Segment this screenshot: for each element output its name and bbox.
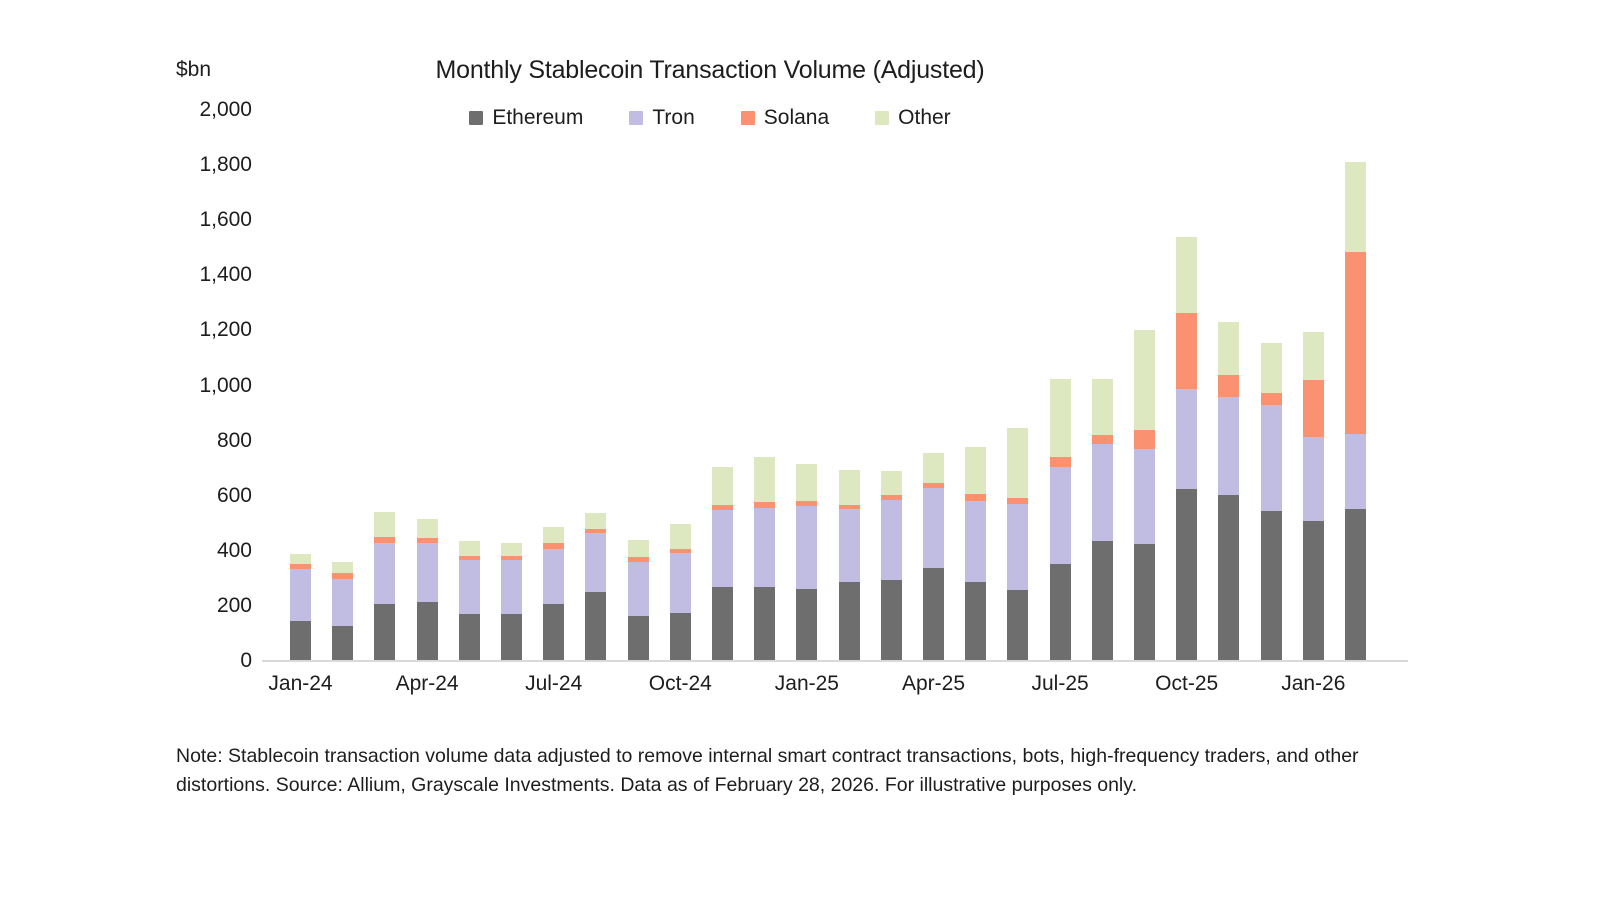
bar-segment-other xyxy=(1134,330,1155,430)
bar-segment-other xyxy=(712,467,733,506)
bar-segment-other xyxy=(1176,237,1197,314)
bar-segment-solana xyxy=(1176,313,1197,389)
bar-segment-tron xyxy=(290,569,311,621)
bar-apr-24[interactable] xyxy=(417,110,438,661)
bar-segment-ethereum xyxy=(712,587,733,661)
bar-segment-solana xyxy=(1345,252,1366,434)
bar-jan-26[interactable] xyxy=(1303,110,1324,661)
bar-may-24[interactable] xyxy=(459,110,480,661)
bar-jan-25[interactable] xyxy=(796,110,817,661)
bar-segment-other xyxy=(965,447,986,494)
bar-segment-tron xyxy=(417,543,438,601)
bar-segment-ethereum xyxy=(923,568,944,661)
bar-segment-ethereum xyxy=(670,613,691,661)
bar-segment-ethereum xyxy=(965,582,986,661)
bar-feb-26[interactable] xyxy=(1345,110,1366,661)
bar-may-25[interactable] xyxy=(965,110,986,661)
bar-segment-tron xyxy=(374,543,395,604)
bar-segment-tron xyxy=(1176,389,1197,489)
y-axis-tick-label: 0 xyxy=(162,649,252,673)
x-axis-tick-label: Apr-24 xyxy=(396,672,459,696)
bar-segment-tron xyxy=(501,560,522,614)
bar-segment-other xyxy=(374,512,395,537)
bar-nov-25[interactable] xyxy=(1218,110,1239,661)
bar-segment-solana xyxy=(1261,393,1282,405)
bar-segment-solana xyxy=(1303,380,1324,437)
bar-dec-24[interactable] xyxy=(754,110,775,661)
bar-segment-ethereum xyxy=(543,604,564,661)
bar-segment-solana xyxy=(1218,375,1239,397)
bar-segment-ethereum xyxy=(1134,544,1155,661)
bar-sep-24[interactable] xyxy=(628,110,649,661)
bar-segment-tron xyxy=(628,562,649,616)
x-axis-tick-label: Jan-25 xyxy=(775,672,839,696)
bar-jun-25[interactable] xyxy=(1007,110,1028,661)
bar-segment-other xyxy=(670,524,691,549)
plot-area xyxy=(262,105,1402,661)
bar-oct-24[interactable] xyxy=(670,110,691,661)
bar-segment-tron xyxy=(332,579,353,625)
y-axis-tick-label: 1,000 xyxy=(162,374,252,398)
x-axis-tick-label: Jul-25 xyxy=(1031,672,1088,696)
bar-nov-24[interactable] xyxy=(712,110,733,661)
bar-segment-other xyxy=(585,513,606,529)
bar-segment-other xyxy=(417,519,438,539)
x-axis-tick-label: Jan-24 xyxy=(268,672,332,696)
bar-segment-ethereum xyxy=(881,580,902,661)
bar-segment-tron xyxy=(1050,467,1071,564)
y-axis-tick-label: 2,000 xyxy=(162,98,252,122)
y-axis-tick-label: 200 xyxy=(162,594,252,618)
bar-segment-other xyxy=(754,457,775,502)
bar-segment-other xyxy=(290,554,311,564)
bar-segment-ethereum xyxy=(417,602,438,661)
y-axis-tick-label: 1,800 xyxy=(162,153,252,177)
bar-segment-ethereum xyxy=(628,616,649,661)
bar-segment-tron xyxy=(1303,437,1324,521)
x-axis-tick-label: Jan-26 xyxy=(1281,672,1345,696)
bar-segment-other xyxy=(1345,162,1366,252)
bar-segment-tron xyxy=(923,488,944,568)
bar-segment-ethereum xyxy=(501,614,522,661)
bar-segment-ethereum xyxy=(290,621,311,661)
bar-segment-tron xyxy=(754,508,775,587)
bar-segment-tron xyxy=(1218,397,1239,495)
y-axis-tick-label: 1,200 xyxy=(162,318,252,342)
bar-segment-ethereum xyxy=(332,626,353,661)
bar-sep-25[interactable] xyxy=(1134,110,1155,661)
bar-oct-25[interactable] xyxy=(1176,110,1197,661)
bar-segment-solana xyxy=(1134,430,1155,449)
bar-apr-25[interactable] xyxy=(923,110,944,661)
bar-segment-ethereum xyxy=(839,582,860,661)
bar-segment-ethereum xyxy=(1050,564,1071,661)
bar-jun-24[interactable] xyxy=(501,110,522,661)
bar-segment-tron xyxy=(459,560,480,614)
x-axis-tick-label: Jul-24 xyxy=(525,672,582,696)
y-axis-tick-label: 600 xyxy=(162,484,252,508)
bar-dec-25[interactable] xyxy=(1261,110,1282,661)
x-axis-line xyxy=(262,660,1408,662)
bar-segment-other xyxy=(459,541,480,555)
bar-segment-other xyxy=(1050,379,1071,456)
bar-segment-other xyxy=(1261,343,1282,393)
bar-segment-other xyxy=(923,453,944,483)
bar-segment-ethereum xyxy=(754,587,775,661)
bar-segment-ethereum xyxy=(585,592,606,661)
bar-segment-other xyxy=(1092,379,1113,434)
bar-segment-ethereum xyxy=(1007,590,1028,661)
bar-segment-other xyxy=(881,471,902,495)
x-axis-tick-label: Oct-24 xyxy=(649,672,712,696)
bar-segment-other xyxy=(1007,428,1028,498)
bar-feb-25[interactable] xyxy=(839,110,860,661)
bar-segment-tron xyxy=(1007,504,1028,590)
bar-segment-tron xyxy=(670,553,691,613)
bar-jan-24[interactable] xyxy=(290,110,311,661)
bar-segment-other xyxy=(839,470,860,505)
bar-segment-tron xyxy=(1261,405,1282,511)
bar-segment-tron xyxy=(1345,434,1366,510)
bar-segment-solana xyxy=(965,494,986,501)
bar-mar-24[interactable] xyxy=(374,110,395,661)
bar-segment-tron xyxy=(1092,444,1113,541)
bar-segment-tron xyxy=(712,510,733,587)
bar-segment-tron xyxy=(1134,449,1155,544)
bar-segment-tron xyxy=(543,549,564,604)
bar-feb-24[interactable] xyxy=(332,110,353,661)
y-axis-tick-label: 1,600 xyxy=(162,208,252,232)
bar-segment-solana xyxy=(1050,457,1071,467)
bar-segment-tron xyxy=(585,533,606,592)
bar-jul-25[interactable] xyxy=(1050,110,1071,661)
x-axis-tick-label: Oct-25 xyxy=(1155,672,1218,696)
bar-segment-ethereum xyxy=(1303,521,1324,661)
bar-segment-solana xyxy=(1092,435,1113,445)
bar-segment-other xyxy=(1303,332,1324,379)
bar-segment-tron xyxy=(839,509,860,583)
bar-segment-ethereum xyxy=(374,604,395,661)
bar-segment-ethereum xyxy=(1218,495,1239,661)
y-axis-tick-label: 800 xyxy=(162,429,252,453)
bar-segment-tron xyxy=(796,506,817,589)
bar-segment-ethereum xyxy=(1176,489,1197,661)
bar-jul-24[interactable] xyxy=(543,110,564,661)
bar-mar-25[interactable] xyxy=(881,110,902,661)
chart-footnote: Note: Stablecoin transaction volume data… xyxy=(176,742,1396,800)
y-axis-tick-label: 400 xyxy=(162,539,252,563)
bar-segment-other xyxy=(1218,322,1239,376)
bar-segment-ethereum xyxy=(1261,511,1282,661)
bar-segment-other xyxy=(543,527,564,543)
y-axis-tick-label: 1,400 xyxy=(162,263,252,287)
bar-segment-tron xyxy=(965,501,986,583)
x-axis-tick-label: Apr-25 xyxy=(902,672,965,696)
bar-segment-ethereum xyxy=(1345,509,1366,661)
bar-segment-ethereum xyxy=(459,614,480,661)
bar-aug-24[interactable] xyxy=(585,110,606,661)
bar-segment-ethereum xyxy=(1092,541,1113,661)
bar-segment-ethereum xyxy=(796,589,817,661)
bar-aug-25[interactable] xyxy=(1092,110,1113,661)
chart-page: $bn Monthly Stablecoin Transaction Volum… xyxy=(0,0,1600,900)
bar-segment-tron xyxy=(881,500,902,579)
bar-segment-other xyxy=(796,464,817,501)
bar-segment-other xyxy=(628,540,649,557)
bar-segment-other xyxy=(501,543,522,556)
chart-title: Monthly Stablecoin Transaction Volume (A… xyxy=(300,56,1120,85)
bar-segment-other xyxy=(332,562,353,574)
